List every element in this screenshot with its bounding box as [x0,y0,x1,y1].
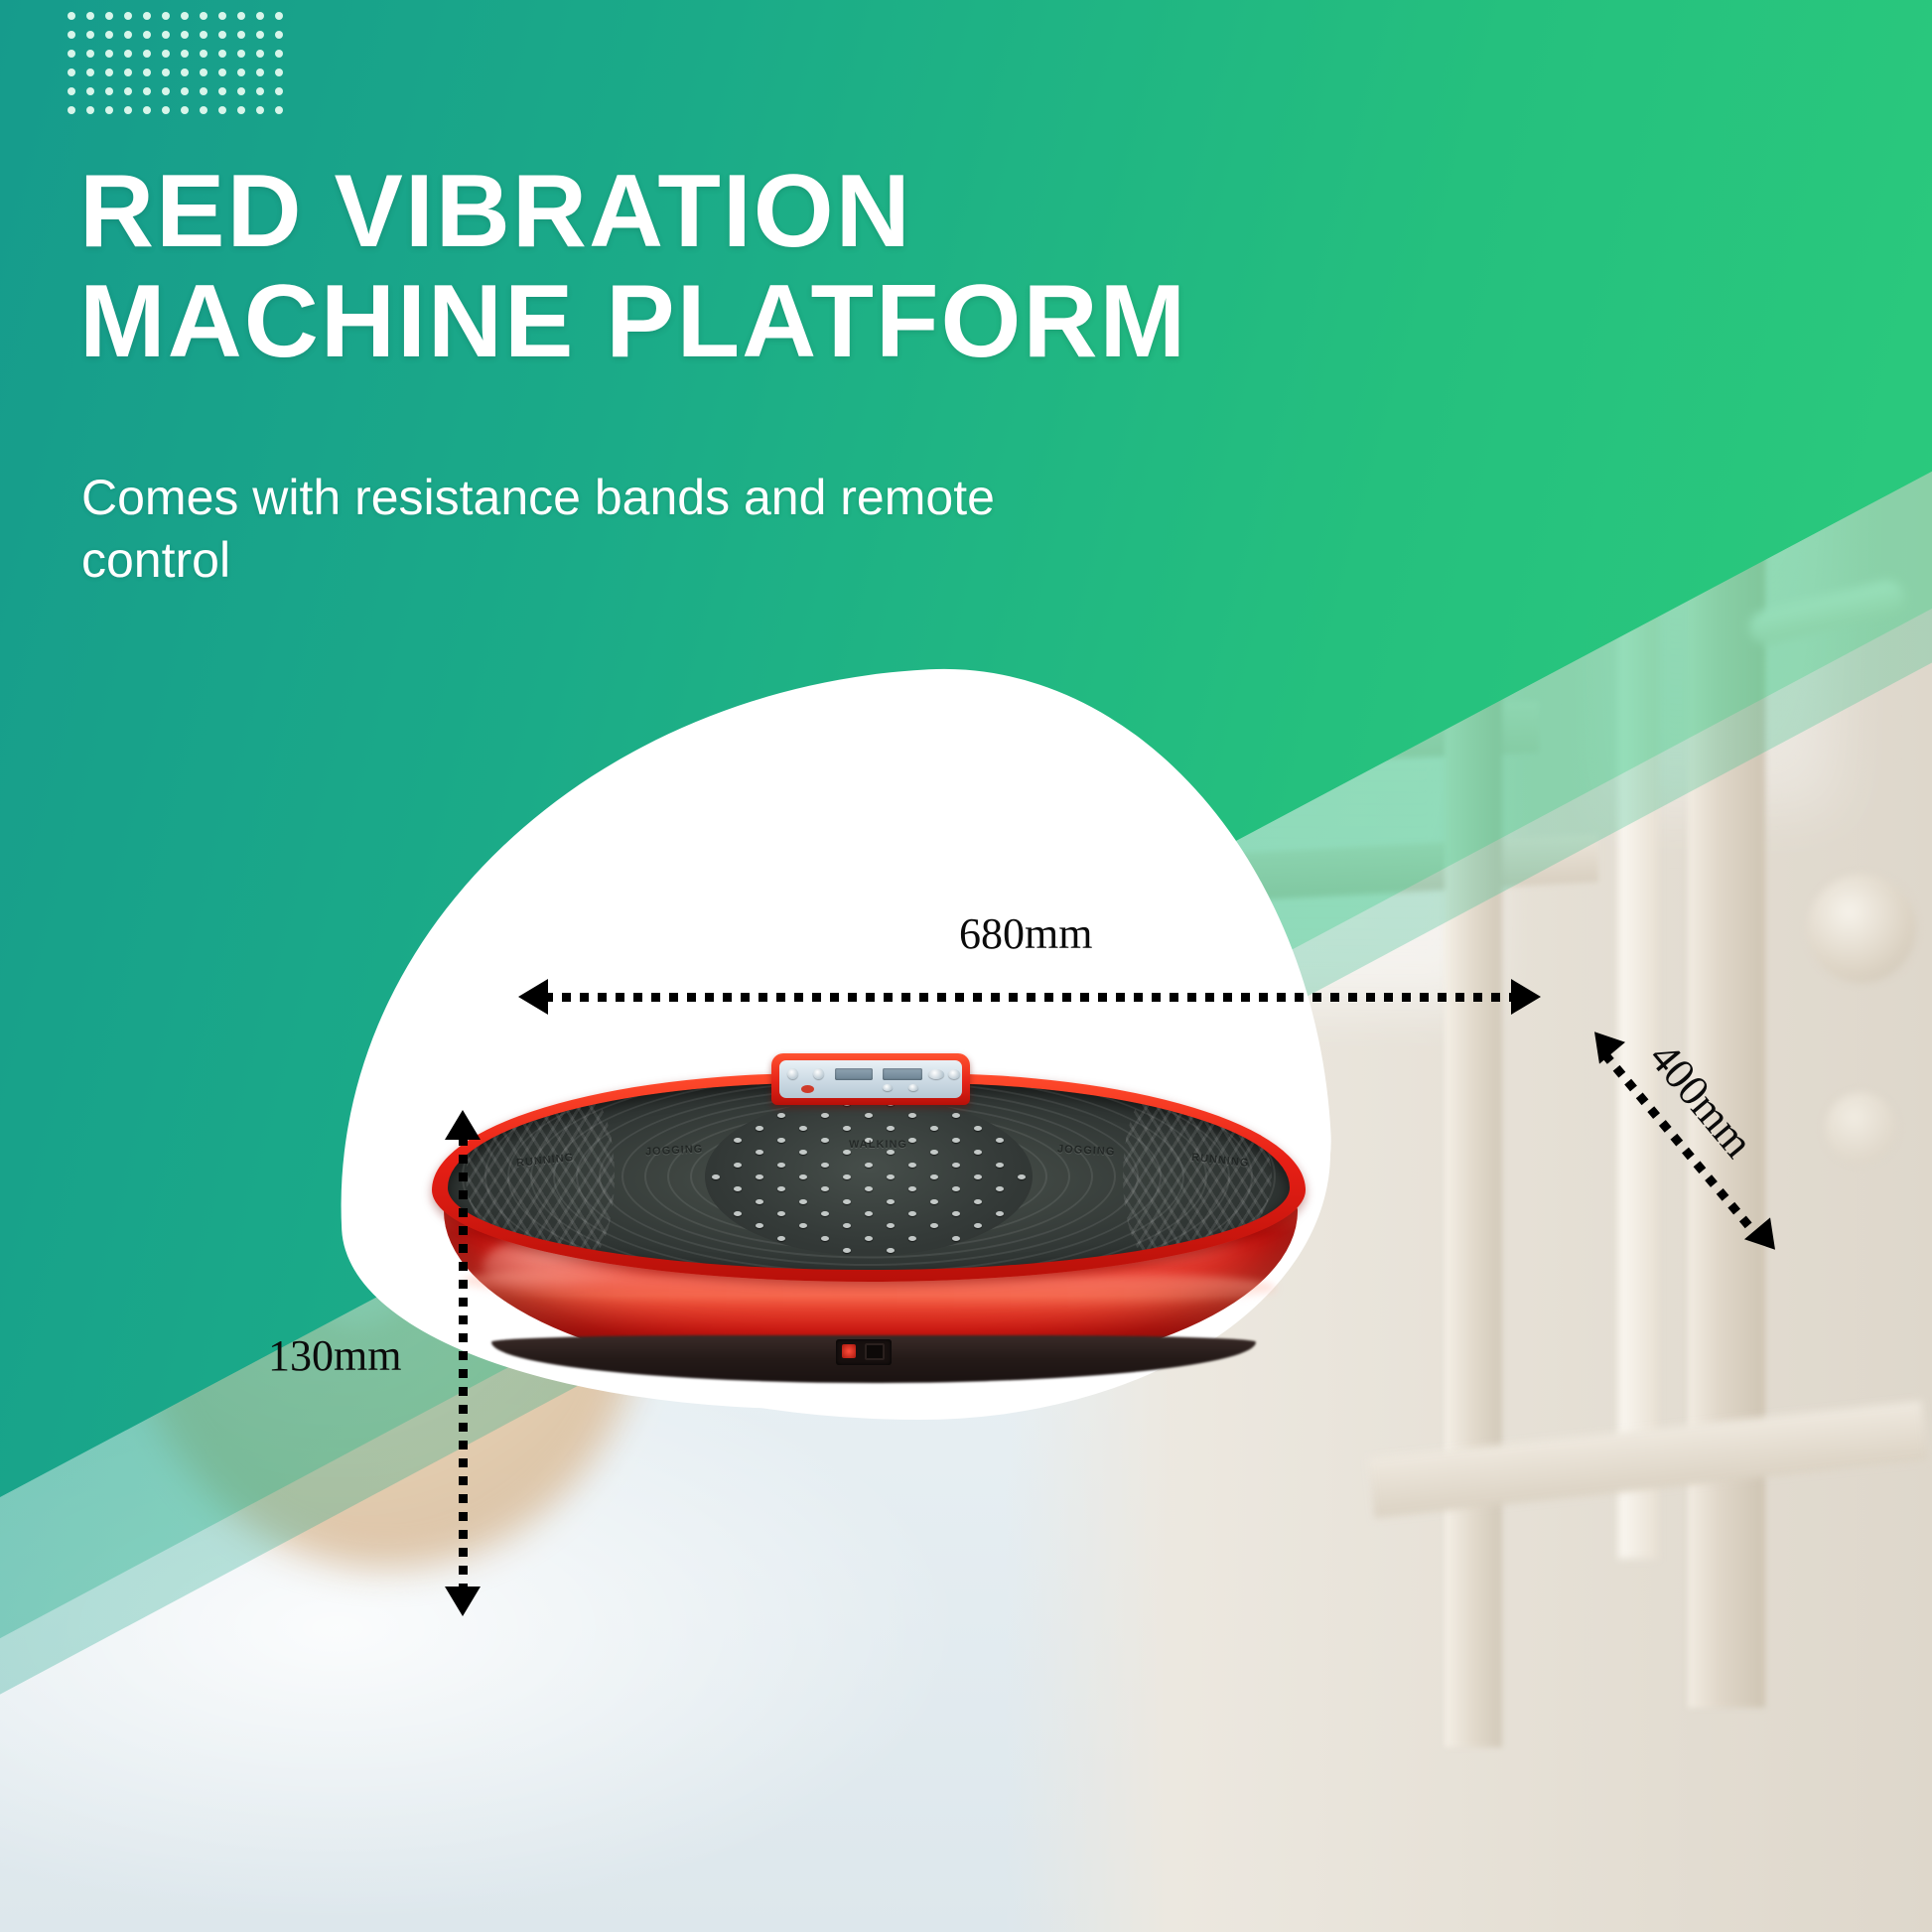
massage-nub [908,1138,916,1143]
massage-nub [887,1223,895,1228]
massage-nub [712,1174,720,1179]
massage-nub [930,1199,938,1204]
massage-nub [799,1223,807,1228]
dimension-label-height: 130mm [268,1330,401,1381]
massage-nub [974,1174,982,1179]
massage-nub [734,1211,742,1216]
grid-dot [256,12,264,20]
grid-dot [256,69,264,76]
grid-dot [105,69,113,76]
massage-nub [865,1236,873,1241]
grid-dot [181,12,189,20]
massage-nub [996,1163,1004,1168]
grid-dot [68,31,75,39]
grid-dot [275,50,283,58]
grid-dot [218,87,226,95]
control-panel[interactable] [771,1053,970,1105]
massage-nub [777,1138,785,1143]
massage-nub [843,1150,851,1155]
grid-dot [105,87,113,95]
grid-dot [162,12,170,20]
grid-dot [86,12,94,20]
massage-nub [821,1163,829,1168]
massage-nub [887,1126,895,1131]
grid-dot [68,69,75,76]
dot-grid-decoration [68,12,282,117]
power-socket-icon [865,1343,885,1360]
massage-nub [843,1174,851,1179]
product-infographic: RED VIBRATION MACHINE PLATFORM Comes wit… [0,0,1932,1932]
panel-button[interactable] [928,1069,944,1079]
massage-nub [974,1223,982,1228]
massage-nub [756,1199,763,1204]
grid-dot [68,87,75,95]
massage-nub [952,1236,960,1241]
page-title: RED VIBRATION MACHINE PLATFORM [79,157,1489,378]
grid-dot [86,87,94,95]
grid-dot [86,50,94,58]
massage-nub [930,1174,938,1179]
dimension-line-width [544,993,1517,1002]
grid-dot [218,31,226,39]
massage-nub [952,1211,960,1216]
tray-zone-label: WALKING [849,1139,907,1151]
panel-button[interactable] [948,1069,960,1079]
massage-nub [756,1174,763,1179]
massage-nub [908,1163,916,1168]
grid-dot [162,50,170,58]
grid-dot [237,106,245,114]
massage-nub [996,1186,1004,1191]
grid-dot [237,87,245,95]
product-image: RUNNINGJOGGINGWALKINGJOGGINGRUNNING [422,1067,1315,1395]
panel-button[interactable] [883,1084,893,1091]
massage-nub [887,1199,895,1204]
grid-dot [86,31,94,39]
massage-nub [777,1113,785,1118]
grid-dot [124,87,132,95]
grid-dot [143,69,151,76]
grid-dot [68,106,75,114]
massage-nub [930,1150,938,1155]
grid-dot [256,50,264,58]
grid-dot [275,87,283,95]
product-standing-tray [448,1083,1290,1270]
massage-nub [799,1126,807,1131]
panel-display [835,1068,873,1080]
massage-nub [734,1138,742,1143]
massage-nub [799,1199,807,1204]
grid-dot [105,31,113,39]
panel-button[interactable] [787,1068,798,1079]
massage-nub [908,1236,916,1241]
grid-dot [105,50,113,58]
grid-dot [68,50,75,58]
grid-dot [200,106,207,114]
panel-indicator-icon [801,1085,814,1093]
grid-dot [200,12,207,20]
massage-nub [821,1138,829,1143]
panel-button[interactable] [813,1068,824,1079]
grid-dot [124,31,132,39]
grid-dot [200,87,207,95]
grid-dot [68,12,75,20]
grid-dot [181,87,189,95]
grid-dot [218,69,226,76]
title-line-2: MACHINE PLATFORM [79,267,1489,377]
massage-nub [952,1186,960,1191]
grid-dot [143,31,151,39]
massage-nub [799,1174,807,1179]
grid-dot [181,50,189,58]
massage-nub [843,1223,851,1228]
grid-dot [200,50,207,58]
massage-nub [996,1138,1004,1143]
massage-nub [930,1223,938,1228]
massage-nub [821,1113,829,1118]
massage-nub [887,1174,895,1179]
massage-nub [952,1138,960,1143]
massage-nub [887,1150,895,1155]
dimension-arrow-width-left [518,979,548,1015]
massage-nub [908,1211,916,1216]
massage-nub [974,1126,982,1131]
massage-nub [821,1186,829,1191]
grid-dot [237,50,245,58]
massage-nub [952,1163,960,1168]
grid-dot [86,69,94,76]
panel-button[interactable] [908,1084,918,1091]
grid-dot [124,69,132,76]
massage-nub [777,1163,785,1168]
massage-nub [865,1113,873,1118]
grid-dot [237,31,245,39]
massage-nub [756,1223,763,1228]
grid-dot [275,69,283,76]
massage-nub [821,1236,829,1241]
grid-dot [237,12,245,20]
grid-dot [143,87,151,95]
grid-dot [237,69,245,76]
grid-dot [162,87,170,95]
massage-nub [1018,1174,1026,1179]
background-bench-knob [1807,874,1916,983]
grid-dot [124,12,132,20]
massage-nub [799,1150,807,1155]
grid-dot [181,106,189,114]
control-panel-face[interactable] [779,1060,962,1098]
massage-nub [974,1150,982,1155]
grid-dot [143,106,151,114]
grid-dot [105,12,113,20]
dimension-arrow-width-right [1511,979,1541,1015]
massage-nub [843,1199,851,1204]
massage-nub [777,1186,785,1191]
dimension-label-width: 680mm [959,908,1092,959]
grid-dot [162,31,170,39]
grid-dot [256,31,264,39]
grid-dot [124,106,132,114]
grid-dot [143,50,151,58]
grid-dot [124,50,132,58]
panel-display [883,1068,922,1080]
massage-nub [843,1126,851,1131]
title-line-1: RED VIBRATION [79,154,912,269]
grid-dot [143,12,151,20]
massage-nub [865,1211,873,1216]
grid-dot [218,12,226,20]
grid-dot [162,69,170,76]
grid-dot [200,31,207,39]
grid-dot [105,106,113,114]
massage-nub [734,1163,742,1168]
page-subtitle: Comes with resistance bands and remote c… [81,467,1054,592]
grid-dot [256,106,264,114]
massage-nub [974,1199,982,1204]
grid-dot [218,106,226,114]
massage-nub [777,1236,785,1241]
grid-dot [200,69,207,76]
grid-dot [162,106,170,114]
grid-dot [275,31,283,39]
massage-nub [734,1186,742,1191]
massage-nub [865,1186,873,1191]
grid-dot [181,31,189,39]
massage-nub [756,1150,763,1155]
dimension-line-height [459,1137,468,1593]
power-led-icon [842,1344,856,1358]
massage-nub [843,1248,851,1253]
grid-dot [218,50,226,58]
background-bench-knob-secondary [1825,1092,1896,1164]
grid-dot [181,69,189,76]
massage-nub [908,1113,916,1118]
massage-nub [887,1248,895,1253]
grid-dot [86,106,94,114]
grid-dot [275,12,283,20]
massage-nub [777,1211,785,1216]
dimension-arrow-height-bottom [445,1587,481,1616]
massage-nub [821,1211,829,1216]
dimension-arrow-height-top [445,1110,481,1140]
massage-nub [865,1163,873,1168]
tray-massage-zone [705,1097,1033,1256]
massage-nub [952,1113,960,1118]
massage-nub [756,1126,763,1131]
massage-nub [930,1126,938,1131]
grid-dot [275,106,283,114]
grid-dot [256,87,264,95]
massage-nub [908,1186,916,1191]
massage-nub [996,1211,1004,1216]
